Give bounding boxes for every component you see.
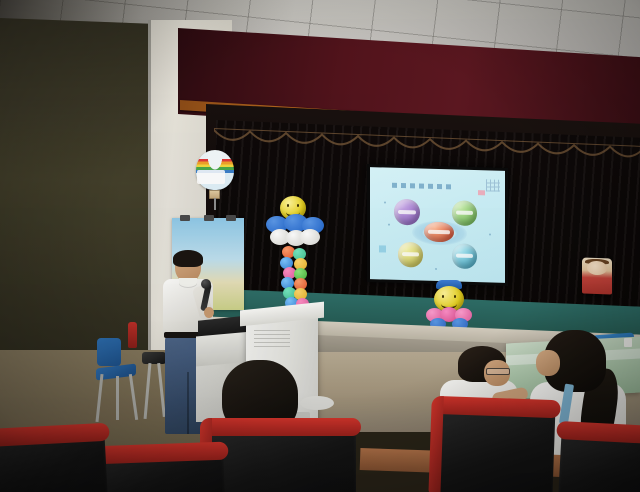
poster-clip: [226, 215, 236, 221]
balloon-stand: [214, 198, 216, 210]
slide-dot: [388, 224, 390, 226]
blue-folding-chair-back[interactable]: [97, 338, 121, 366]
cartoon-standee: [582, 257, 612, 294]
slide-dot: [384, 201, 386, 203]
slide-sphere-green: [452, 201, 476, 226]
slide-sphere-purple-label: [398, 210, 416, 215]
slide-sphere-purple: [394, 199, 420, 225]
slide-sphere-center-label: [428, 229, 449, 234]
smiley-eye-left: [442, 295, 444, 298]
projection-screen-frame: [367, 164, 508, 286]
smiley-eye-left: [287, 204, 289, 207]
auditorium-seat[interactable]: [0, 429, 108, 492]
auditorium-seat[interactable]: [95, 448, 225, 492]
slide-pink-square-accent: [478, 190, 485, 195]
audience-woman-face: [536, 350, 560, 376]
projection-screen: [370, 167, 505, 283]
slide-dot: [435, 267, 437, 269]
slide-title-text: [392, 182, 451, 189]
presenter-collar: [179, 278, 197, 287]
auditorium-seat[interactable]: [206, 424, 356, 492]
fire-extinguisher: [128, 322, 137, 348]
presenter-leg-seam: [187, 372, 189, 434]
glasses-icon: [486, 368, 510, 375]
presenter-hair: [173, 250, 203, 267]
auditorium-photo: School auditorium presentation: [0, 0, 640, 492]
smiley-eye-right: [454, 295, 456, 298]
balloon-tower: [266, 196, 324, 314]
slide-sphere-center: [424, 221, 454, 242]
slide-sphere-yellow-label: [402, 252, 419, 256]
poster-clip: [204, 215, 214, 221]
seat-rim: [201, 418, 361, 436]
slide-dot-grid-accent: [486, 179, 500, 191]
slide-dot: [489, 233, 491, 235]
auditorium-seat[interactable]: [558, 427, 640, 492]
chair-leg: [116, 376, 119, 420]
slide-sphere-green-label: [456, 211, 473, 215]
microphone-head-icon: [201, 279, 211, 289]
standee-face: [587, 261, 607, 275]
slide-blue-square-accent: [379, 246, 386, 253]
slide-sphere-cyan: [452, 243, 476, 268]
auditorium-seat[interactable]: [434, 402, 555, 492]
lectern-vent-slots: [254, 329, 290, 347]
hot-air-balloon-display: [192, 150, 238, 208]
balloon-caption: [197, 170, 225, 184]
presenter-hand: [204, 307, 214, 318]
slide-sphere-yellow: [398, 242, 422, 267]
balloon-white: [300, 229, 320, 245]
poster-clip: [180, 215, 190, 221]
smiley-eye-right: [297, 204, 299, 207]
balloon-smiley-figure: [424, 282, 476, 330]
slide-sphere-cyan-label: [456, 253, 473, 257]
